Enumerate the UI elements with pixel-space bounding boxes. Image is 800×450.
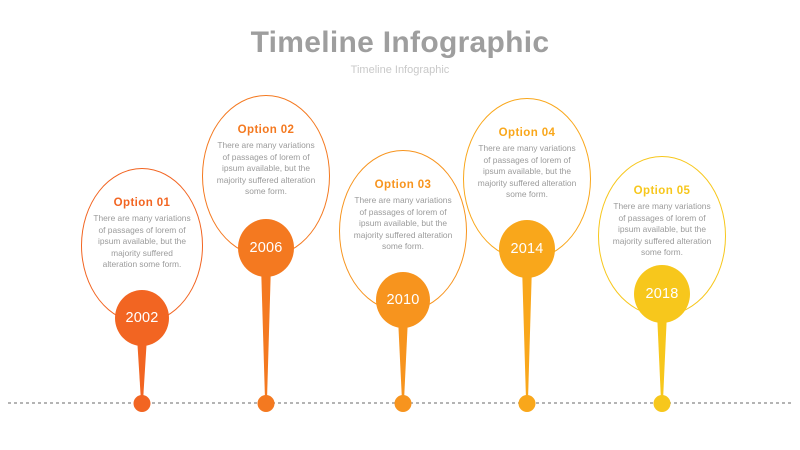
- timeline-stem: [135, 340, 149, 403]
- year-label: 2006: [249, 240, 282, 256]
- year-marker[interactable]: 2002: [115, 290, 169, 346]
- option-text-block: Option 05There are many variations of pa…: [610, 184, 714, 259]
- option-text-block: Option 01There are many variations of pa…: [93, 196, 191, 271]
- timeline-stem: [396, 322, 410, 403]
- year-label: 2002: [125, 310, 158, 326]
- timeline-stem: [259, 271, 273, 403]
- year-label: 2018: [645, 286, 678, 302]
- option-text-block: Option 04There are many variations of pa…: [475, 126, 579, 201]
- timeline-stem: [520, 272, 534, 403]
- option-label: Option 02: [214, 123, 318, 138]
- option-label: Option 01: [93, 196, 191, 211]
- option-description: There are many variations of passages of…: [214, 140, 318, 198]
- header: Timeline Infographic Timeline Infographi…: [0, 26, 800, 78]
- axis-dot[interactable]: [395, 395, 412, 412]
- page-title: Timeline Infographic: [0, 26, 800, 60]
- option-description: There are many variations of passages of…: [93, 213, 191, 271]
- year-marker[interactable]: 2010: [376, 272, 430, 328]
- year-marker[interactable]: 2018: [634, 265, 690, 323]
- axis-dot[interactable]: [654, 395, 671, 412]
- page-subtitle: Timeline Infographic: [0, 62, 800, 78]
- axis-dot[interactable]: [258, 395, 275, 412]
- year-label: 2010: [386, 292, 419, 308]
- year-marker[interactable]: 2006: [238, 219, 294, 277]
- option-description: There are many variations of passages of…: [351, 195, 455, 253]
- option-label: Option 04: [475, 126, 579, 141]
- infographic-canvas: Timeline Infographic Timeline Infographi…: [0, 0, 800, 450]
- option-label: Option 03: [351, 178, 455, 193]
- axis-dot[interactable]: [134, 395, 151, 412]
- option-text-block: Option 02There are many variations of pa…: [214, 123, 318, 198]
- year-marker[interactable]: 2014: [499, 220, 555, 278]
- option-text-block: Option 03There are many variations of pa…: [351, 178, 455, 253]
- timeline-stem: [655, 317, 669, 403]
- axis-dot[interactable]: [519, 395, 536, 412]
- option-description: There are many variations of passages of…: [610, 201, 714, 259]
- option-label: Option 05: [610, 184, 714, 199]
- year-label: 2014: [510, 241, 543, 257]
- option-description: There are many variations of passages of…: [475, 143, 579, 201]
